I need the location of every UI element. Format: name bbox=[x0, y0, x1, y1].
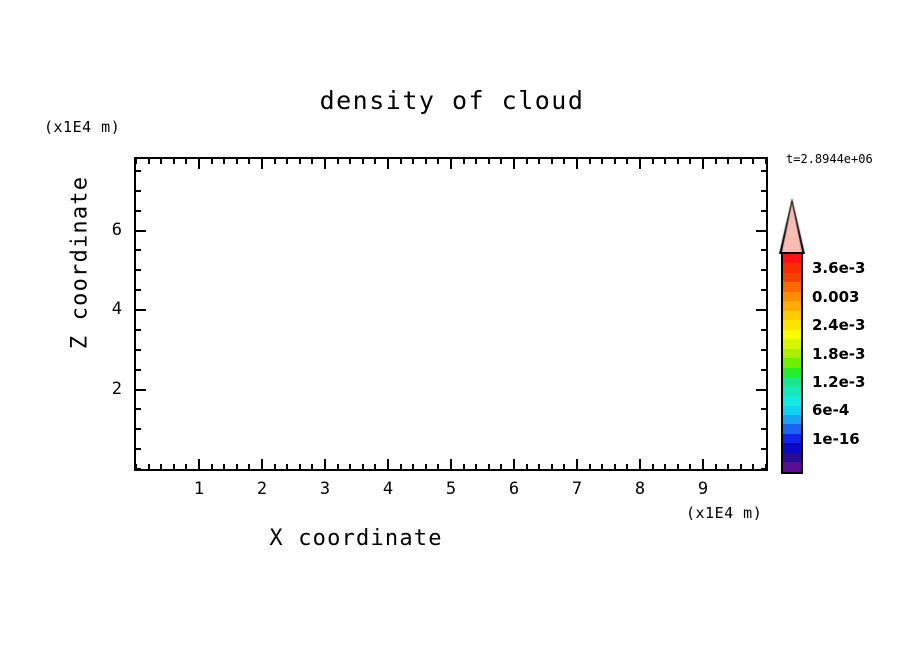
x-tick-minor-top bbox=[463, 159, 465, 164]
x-tick-major bbox=[324, 459, 326, 469]
colorbar-band bbox=[783, 406, 801, 415]
colorbar-band bbox=[783, 462, 801, 471]
colorbar-band bbox=[783, 443, 801, 452]
x-tick-minor bbox=[563, 464, 565, 469]
x-tick-minor bbox=[614, 464, 616, 469]
x-tick-minor bbox=[526, 464, 528, 469]
x-tick-minor bbox=[689, 464, 691, 469]
x-tick-minor-top bbox=[437, 159, 439, 164]
y-tick-major bbox=[136, 230, 146, 232]
colorbar-tick-label: 3.6e-3 bbox=[812, 259, 865, 277]
x-tick-minor bbox=[211, 464, 213, 469]
x-tick-minor-top bbox=[727, 159, 729, 164]
x-tick-minor bbox=[752, 464, 754, 469]
x-tick-major bbox=[639, 459, 641, 469]
x-tick-minor-top bbox=[223, 159, 225, 164]
x-tick-major bbox=[576, 459, 578, 469]
x-tick-minor bbox=[551, 464, 553, 469]
x-axis-title: X coordinate bbox=[0, 526, 712, 551]
y-tick-minor bbox=[136, 468, 141, 470]
colorbar-band bbox=[783, 415, 801, 424]
x-tick-minor-top bbox=[664, 159, 666, 164]
x-tick-minor-top bbox=[236, 159, 238, 164]
x-tick-label: 2 bbox=[242, 479, 282, 499]
y-tick-minor bbox=[136, 210, 141, 212]
x-tick-major bbox=[513, 459, 515, 469]
x-tick-major-top bbox=[198, 159, 200, 169]
x-tick-minor-top bbox=[715, 159, 717, 164]
colorbar-band bbox=[783, 453, 801, 462]
x-tick-label: 3 bbox=[305, 479, 345, 499]
x-tick-minor bbox=[677, 464, 679, 469]
x-tick-label: 4 bbox=[368, 479, 408, 499]
x-tick-minor-top bbox=[362, 159, 364, 164]
x-tick-major-top bbox=[450, 159, 452, 169]
x-tick-minor-top bbox=[526, 159, 528, 164]
y-tick-minor-right bbox=[761, 408, 766, 410]
x-tick-minor bbox=[148, 464, 150, 469]
y-axis-unit-label: (x1E4 m) bbox=[44, 118, 120, 136]
y-tick-major-right bbox=[756, 230, 766, 232]
x-tick-minor-top bbox=[412, 159, 414, 164]
y-tick-label: 2 bbox=[82, 379, 122, 399]
x-tick-minor-top bbox=[425, 159, 427, 164]
colorbar-bands bbox=[781, 252, 803, 474]
plot-frame bbox=[134, 157, 768, 471]
y-tick-minor bbox=[136, 369, 141, 371]
y-tick-minor-right bbox=[761, 349, 766, 351]
x-tick-minor bbox=[374, 464, 376, 469]
colorbar-band bbox=[783, 358, 801, 367]
x-tick-major bbox=[198, 459, 200, 469]
x-tick-minor bbox=[437, 464, 439, 469]
x-tick-minor-top bbox=[274, 159, 276, 164]
x-tick-minor-top bbox=[211, 159, 213, 164]
y-tick-minor-right bbox=[761, 468, 766, 470]
y-tick-minor-right bbox=[761, 289, 766, 291]
x-tick-minor-top bbox=[677, 159, 679, 164]
x-tick-minor-top bbox=[614, 159, 616, 164]
x-tick-minor bbox=[286, 464, 288, 469]
colorbar-band bbox=[783, 396, 801, 405]
y-tick-minor bbox=[136, 349, 141, 351]
x-tick-minor bbox=[715, 464, 717, 469]
x-tick-minor bbox=[463, 464, 465, 469]
x-tick-major-top bbox=[387, 159, 389, 169]
colorbar-tick-label: 2.4e-3 bbox=[812, 316, 865, 334]
x-tick-minor bbox=[412, 464, 414, 469]
x-tick-minor bbox=[664, 464, 666, 469]
x-tick-minor-top bbox=[173, 159, 175, 164]
colorbar-over-arrow bbox=[778, 198, 806, 254]
x-tick-major-top bbox=[702, 159, 704, 169]
colorbar-band bbox=[783, 263, 801, 272]
x-tick-minor-top bbox=[148, 159, 150, 164]
colorbar-band bbox=[783, 377, 801, 386]
x-axis-unit-label: (x1E4 m) bbox=[686, 504, 762, 522]
colorbar-band bbox=[783, 311, 801, 320]
x-tick-minor-top bbox=[248, 159, 250, 164]
x-tick-minor bbox=[727, 464, 729, 469]
colorbar-band bbox=[783, 424, 801, 433]
colorbar-band bbox=[783, 339, 801, 348]
x-tick-label: 1 bbox=[179, 479, 219, 499]
colorbar-band bbox=[783, 368, 801, 377]
y-tick-minor-right bbox=[761, 448, 766, 450]
colorbar-band bbox=[783, 301, 801, 310]
x-tick-minor-top bbox=[538, 159, 540, 164]
x-tick-minor bbox=[236, 464, 238, 469]
x-tick-minor bbox=[337, 464, 339, 469]
x-tick-major-top bbox=[261, 159, 263, 169]
x-tick-minor-top bbox=[349, 159, 351, 164]
colorbar-band bbox=[783, 273, 801, 282]
colorbar-band bbox=[783, 254, 801, 263]
colorbar-band bbox=[783, 434, 801, 443]
x-tick-major-top bbox=[324, 159, 326, 169]
y-tick-minor bbox=[136, 249, 141, 251]
x-tick-minor-top bbox=[488, 159, 490, 164]
x-tick-minor bbox=[589, 464, 591, 469]
y-tick-minor-right bbox=[761, 190, 766, 192]
x-tick-minor bbox=[488, 464, 490, 469]
x-tick-minor bbox=[601, 464, 603, 469]
colorbar-band bbox=[783, 292, 801, 301]
colorbar-tick-label: 1.2e-3 bbox=[812, 373, 865, 391]
x-tick-major bbox=[261, 459, 263, 469]
x-tick-minor-top bbox=[740, 159, 742, 164]
y-tick-major bbox=[136, 309, 146, 311]
x-tick-label: 9 bbox=[683, 479, 723, 499]
x-tick-minor bbox=[400, 464, 402, 469]
colorbar-band bbox=[783, 320, 801, 329]
x-tick-major bbox=[387, 459, 389, 469]
x-tick-label: 6 bbox=[494, 479, 534, 499]
x-tick-minor bbox=[626, 464, 628, 469]
y-tick-minor-right bbox=[761, 428, 766, 430]
x-tick-minor-top bbox=[500, 159, 502, 164]
x-tick-minor bbox=[475, 464, 477, 469]
x-tick-minor-top bbox=[400, 159, 402, 164]
colorbar-tick-label: 0.003 bbox=[812, 288, 859, 306]
colorbar-tick-label: 1.8e-3 bbox=[812, 345, 865, 363]
x-tick-minor bbox=[223, 464, 225, 469]
x-tick-minor bbox=[362, 464, 364, 469]
x-tick-minor-top bbox=[563, 159, 565, 164]
y-tick-minor bbox=[136, 428, 141, 430]
x-tick-major bbox=[702, 459, 704, 469]
x-tick-label: 8 bbox=[620, 479, 660, 499]
colorbar-band bbox=[783, 349, 801, 358]
x-tick-minor bbox=[425, 464, 427, 469]
x-tick-minor-top bbox=[374, 159, 376, 164]
x-tick-minor-top bbox=[752, 159, 754, 164]
y-tick-minor-right bbox=[761, 369, 766, 371]
colorbar-band bbox=[783, 282, 801, 291]
figure-canvas: density of cloud (x1E4 m) t=2.8944e+06 1… bbox=[0, 0, 904, 654]
x-tick-minor bbox=[160, 464, 162, 469]
y-tick-minor-right bbox=[761, 249, 766, 251]
x-tick-major bbox=[450, 459, 452, 469]
y-tick-minor bbox=[136, 408, 141, 410]
x-tick-major-top bbox=[513, 159, 515, 169]
x-tick-minor-top bbox=[337, 159, 339, 164]
x-tick-label: 5 bbox=[431, 479, 471, 499]
x-tick-minor-top bbox=[299, 159, 301, 164]
colorbar-band bbox=[783, 330, 801, 339]
x-tick-minor bbox=[274, 464, 276, 469]
x-tick-minor-top bbox=[601, 159, 603, 164]
y-tick-minor bbox=[136, 190, 141, 192]
y-tick-major bbox=[136, 389, 146, 391]
y-tick-major-right bbox=[756, 389, 766, 391]
x-tick-minor bbox=[349, 464, 351, 469]
x-tick-minor-top bbox=[626, 159, 628, 164]
colorbar-tick-label: 1e-16 bbox=[812, 430, 860, 448]
y-tick-minor bbox=[136, 448, 141, 450]
colorbar-tick-label: 6e-4 bbox=[812, 401, 849, 419]
x-tick-major-top bbox=[639, 159, 641, 169]
x-tick-minor-top bbox=[311, 159, 313, 164]
x-tick-minor-top bbox=[286, 159, 288, 164]
chart-title: density of cloud bbox=[0, 86, 904, 115]
x-tick-minor bbox=[185, 464, 187, 469]
x-tick-minor bbox=[538, 464, 540, 469]
x-tick-minor bbox=[248, 464, 250, 469]
y-tick-minor-right bbox=[761, 329, 766, 331]
x-tick-minor-top bbox=[475, 159, 477, 164]
x-tick-minor-top bbox=[135, 159, 137, 164]
y-tick-minor-right bbox=[761, 170, 766, 172]
x-tick-minor bbox=[500, 464, 502, 469]
y-tick-minor-right bbox=[761, 269, 766, 271]
timestamp-annotation: t=2.8944e+06 bbox=[786, 152, 873, 166]
colorbar-band bbox=[783, 387, 801, 396]
y-axis-title: Z coordinate bbox=[68, 163, 93, 363]
x-tick-minor bbox=[740, 464, 742, 469]
colorbar bbox=[778, 198, 806, 476]
x-tick-minor-top bbox=[160, 159, 162, 164]
x-tick-minor bbox=[652, 464, 654, 469]
x-tick-minor-top bbox=[185, 159, 187, 164]
x-tick-minor-top bbox=[652, 159, 654, 164]
x-tick-major-top bbox=[576, 159, 578, 169]
y-tick-minor bbox=[136, 329, 141, 331]
y-tick-minor bbox=[136, 170, 141, 172]
y-tick-minor-right bbox=[761, 210, 766, 212]
y-tick-major-right bbox=[756, 309, 766, 311]
y-tick-minor bbox=[136, 289, 141, 291]
x-tick-minor bbox=[311, 464, 313, 469]
y-tick-minor bbox=[136, 269, 141, 271]
x-tick-label: 7 bbox=[557, 479, 597, 499]
x-tick-minor-top bbox=[589, 159, 591, 164]
x-tick-minor-top bbox=[765, 159, 767, 164]
x-tick-minor bbox=[173, 464, 175, 469]
x-tick-minor-top bbox=[689, 159, 691, 164]
x-tick-minor-top bbox=[551, 159, 553, 164]
x-tick-minor bbox=[299, 464, 301, 469]
